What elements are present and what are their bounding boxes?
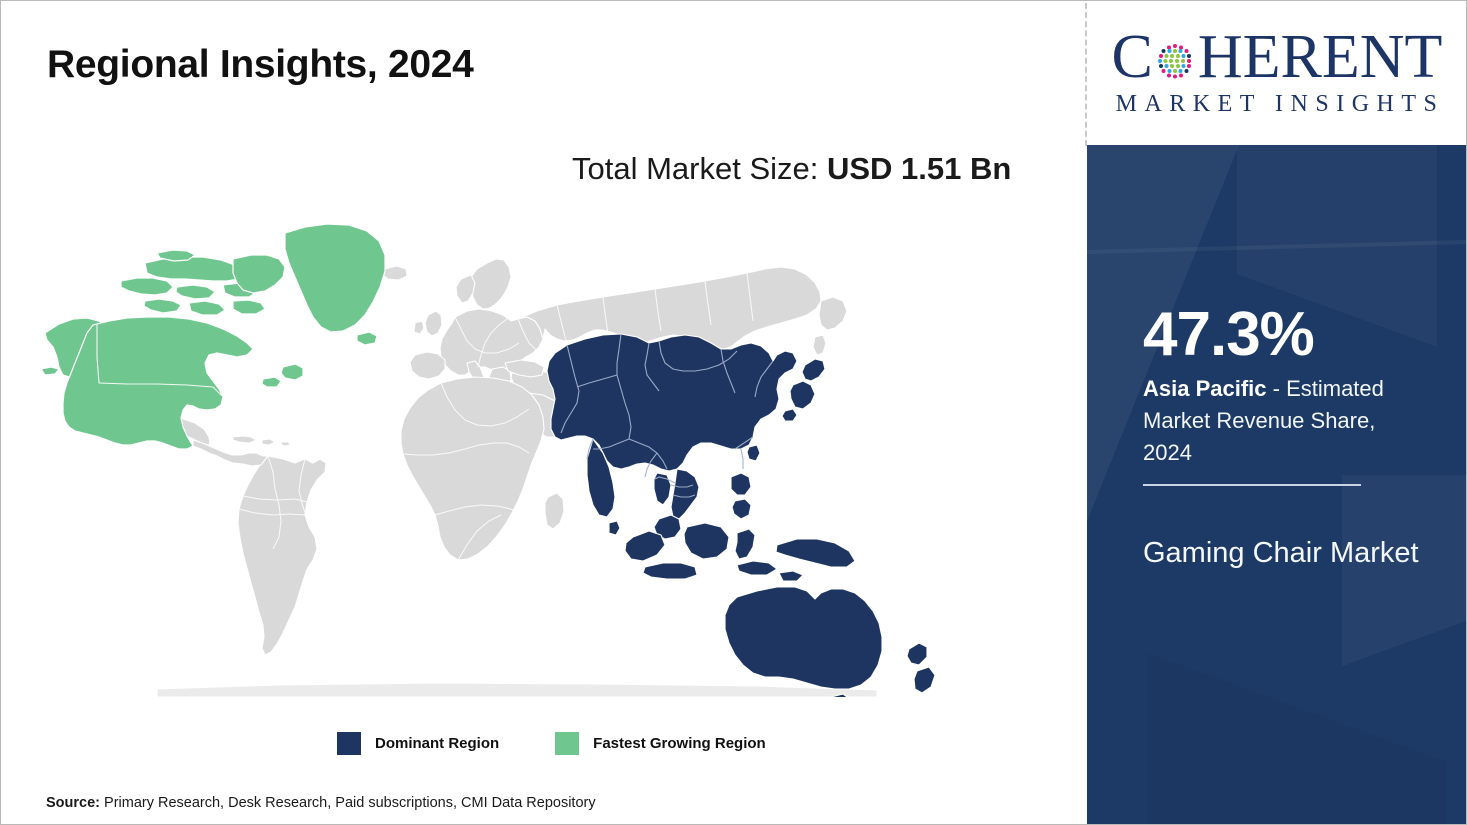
revenue-share-description: Asia Pacific - Estimated Market Revenue …	[1143, 373, 1425, 469]
map-legend: Dominant Region Fastest Growing Region	[337, 732, 766, 755]
stat-panel: 47.3% Asia Pacific - Estimated Market Re…	[1087, 145, 1467, 825]
legend-swatch-fastest-growing-icon	[555, 732, 579, 755]
source-note: Source: Primary Research, Desk Research,…	[46, 795, 596, 811]
revenue-share-percent: 47.3%	[1143, 304, 1314, 366]
source-text: Primary Research, Desk Research, Paid su…	[100, 795, 596, 811]
logo-wordmark: C	[1112, 29, 1443, 87]
globe-icon	[1153, 39, 1197, 83]
page-title: Regional Insights, 2024	[47, 43, 474, 87]
total-market-size-label: Total Market Size:	[572, 151, 827, 186]
world-map	[37, 197, 977, 697]
panel-texture-4	[1147, 575, 1447, 825]
left-content-panel: Regional Insights, 2024 Total Market Siz…	[1, 1, 1086, 825]
total-market-size-value: USD 1.51 Bn	[827, 151, 1011, 186]
legend-item-dominant: Dominant Region	[337, 732, 499, 755]
logo-letter-c: C	[1112, 29, 1153, 86]
legend-label-dominant: Dominant Region	[375, 735, 499, 752]
market-name: Gaming Chair Market	[1143, 533, 1433, 574]
logo-word-rest: HERENT	[1198, 29, 1443, 86]
panel-texture-5	[1087, 240, 1467, 254]
stat-divider	[1143, 484, 1361, 486]
brand-logo: C	[1087, 2, 1467, 145]
map-region-north-america	[41, 224, 385, 449]
infographic-page: Regional Insights, 2024 Total Market Siz…	[0, 0, 1467, 825]
logo-tagline: MARKET INSIGHTS	[1110, 91, 1445, 118]
panel-texture-3	[1342, 475, 1467, 775]
legend-item-fastest-growing: Fastest Growing Region	[555, 732, 766, 755]
legend-swatch-dominant-icon	[337, 732, 361, 755]
total-market-size: Total Market Size: USD 1.51 Bn	[572, 147, 1020, 191]
world-map-svg	[37, 197, 977, 697]
map-region-asia-pacific	[547, 334, 935, 697]
dominant-region-name: Asia Pacific	[1143, 376, 1267, 401]
source-label: Source:	[46, 795, 100, 811]
legend-label-fastest-growing: Fastest Growing Region	[593, 735, 766, 752]
